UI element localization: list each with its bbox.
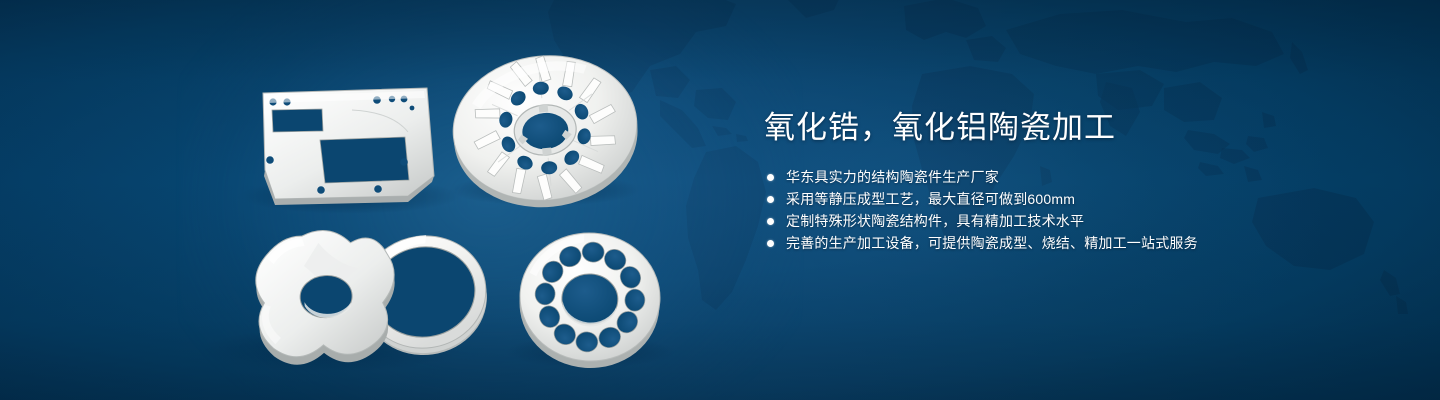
list-item: 华东具实力的结构陶瓷件生产厂家	[767, 166, 1362, 188]
bullet-dot-icon	[767, 196, 774, 203]
marketing-copy: 氧化锆，氧化铝陶瓷加工 华东具实力的结构陶瓷件生产厂家 采用等静压成型工艺，最大…	[762, 108, 1362, 254]
page-title: 氧化锆，氧化铝陶瓷加工	[764, 108, 1362, 148]
bullet-dot-icon	[767, 240, 774, 247]
list-item: 采用等静压成型工艺，最大直径可做到600mm	[767, 188, 1362, 210]
ceramic-four-lobe-star-plate	[253, 226, 401, 369]
list-item: 定制特殊形状陶瓷结构件，具有精加工技术水平	[767, 210, 1362, 232]
feature-text: 采用等静压成型工艺，最大直径可做到600mm	[786, 188, 1075, 210]
feature-text: 定制特殊形状陶瓷结构件，具有精加工技术水平	[786, 210, 1084, 232]
product-photo-group	[0, 0, 720, 400]
ceramic-plate-with-cutouts	[263, 88, 434, 205]
bullet-dot-icon	[767, 174, 774, 181]
feature-text: 华东具实力的结构陶瓷件生产厂家	[786, 166, 999, 188]
bullet-dot-icon	[767, 218, 774, 225]
feature-text: 完善的生产加工设备，可提供陶瓷成型、烧结、精加工一站式服务	[786, 232, 1198, 254]
promo-banner: 氧化锆，氧化铝陶瓷加工 华东具实力的结构陶瓷件生产厂家 采用等静压成型工艺，最大…	[0, 0, 1440, 400]
list-item: 完善的生产加工设备，可提供陶瓷成型、烧结、精加工一站式服务	[767, 232, 1362, 254]
feature-list: 华东具实力的结构陶瓷件生产厂家 采用等静压成型工艺，最大直径可做到600mm 定…	[762, 166, 1362, 254]
